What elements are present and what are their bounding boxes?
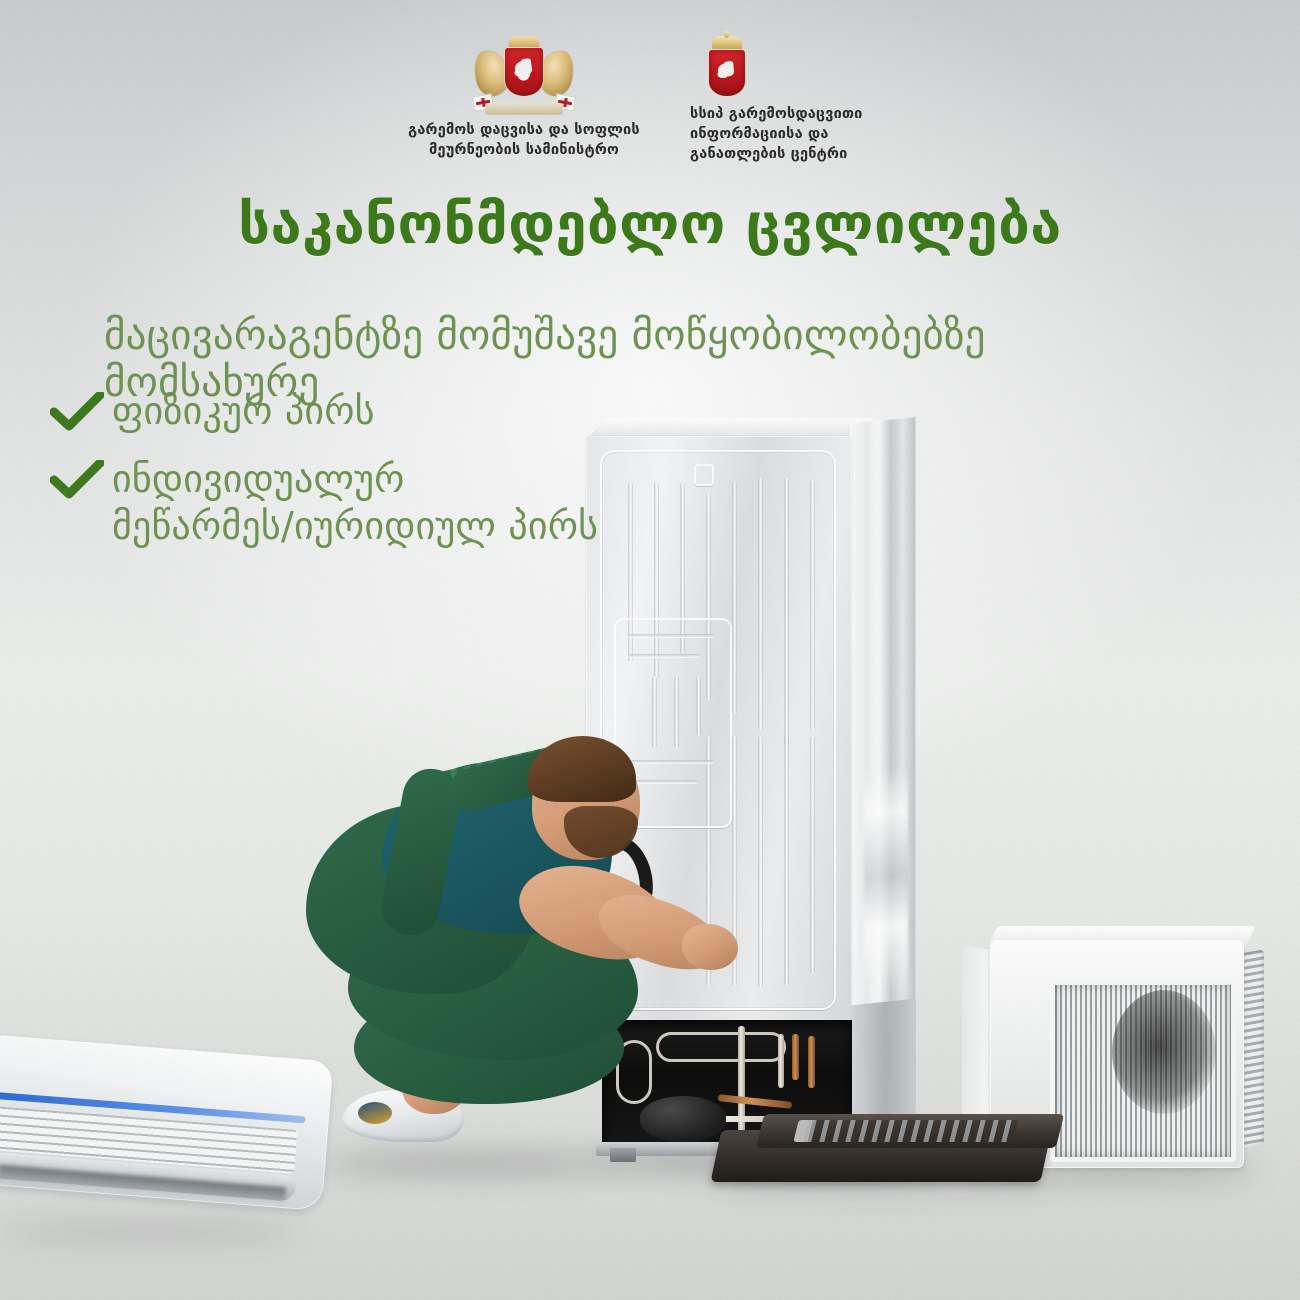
list-item-label: ინდივიდუალურ მეწარმეს/იურიდიულ პირს [112, 457, 598, 547]
bullet-list: ფიზიკურ პირს ინდივიდუალურ მეწარმეს/იურიდ… [46, 388, 666, 571]
georgia-small-crest-icon [704, 36, 750, 100]
ac-fan [1112, 990, 1216, 1114]
tools [793, 1120, 1018, 1142]
technician [296, 742, 716, 1172]
list-item: ინდივიდუალურ მეწარმეს/იურიდიულ პირს [46, 456, 666, 549]
toolbox [716, 1112, 1074, 1190]
technician-hand [682, 924, 738, 970]
georgia-coat-of-arms-icon [471, 36, 577, 114]
poster-canvas: გარემოს დაცვისა და სოფლის მეურნეობის სამ… [0, 0, 1300, 1300]
center-logo-block: სსიპ გარემოსდაცვითი ინფორმაციისა და განა… [690, 36, 920, 164]
list-item: ფიზიკურ პირს [46, 388, 666, 434]
page-title: საკანონმდებლო ცვლილება [0, 196, 1300, 255]
technician-hair [528, 736, 636, 802]
header-logos: გარემოს დაცვისა და სოფლის მეურნეობის სამ… [0, 36, 1300, 166]
center-logo-caption: სსიპ გარემოსდაცვითი ინფორმაციისა და განა… [690, 104, 920, 164]
ac-indoor-unit [0, 1048, 340, 1264]
list-item-label: ფიზიკურ პირს [112, 389, 375, 433]
check-icon [50, 392, 104, 432]
check-icon [50, 460, 104, 500]
ministry-logo-caption: გარემოს დაცვისა და სოფლის მეურნეობის სამ… [386, 120, 662, 160]
ministry-logo-block: გარემოს დაცვისა და სოფლის მეურნეობის სამ… [386, 36, 662, 160]
